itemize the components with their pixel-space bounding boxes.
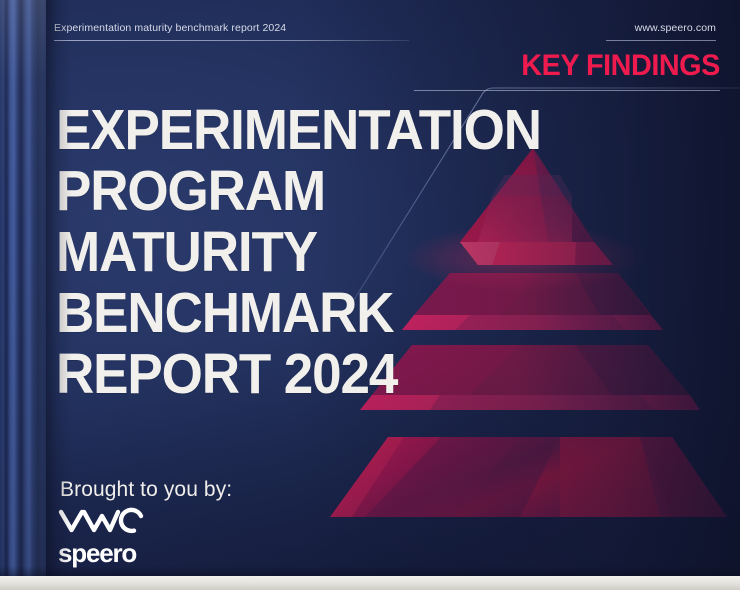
page-title: EXPERIMENTATION PROGRAM MATURITY BENCHMA… — [56, 100, 614, 405]
report-cover: Experimentation maturity benchmark repor… — [0, 0, 740, 590]
title-line-3: MATURITY — [56, 222, 614, 283]
title-line-2: PROGRAM — [56, 161, 614, 222]
header-left-rule — [54, 40, 409, 41]
website-link[interactable]: www.speero.com — [635, 22, 716, 34]
speero-logo-mark: speero — [58, 540, 154, 568]
report-label: Experimentation maturity benchmark repor… — [54, 22, 286, 34]
book-spine-shadow — [46, 0, 72, 590]
title-line-4: BENCHMARK — [56, 283, 614, 344]
key-findings-eyebrow: KEY FINDINGS — [521, 49, 720, 83]
cover-header: Experimentation maturity benchmark repor… — [54, 22, 716, 44]
page-edge-shadow — [0, 566, 740, 576]
title-line-1: EXPERIMENTATION — [56, 100, 614, 161]
key-findings-rule — [414, 90, 720, 91]
header-right-rule — [606, 40, 716, 41]
page-edge — [0, 576, 740, 590]
title-line-5: REPORT 2024 — [56, 344, 614, 405]
book-spine-highlight — [0, 0, 46, 590]
pyramid-tier-base — [330, 437, 727, 517]
credit-label: Brought to you by: — [60, 478, 232, 502]
